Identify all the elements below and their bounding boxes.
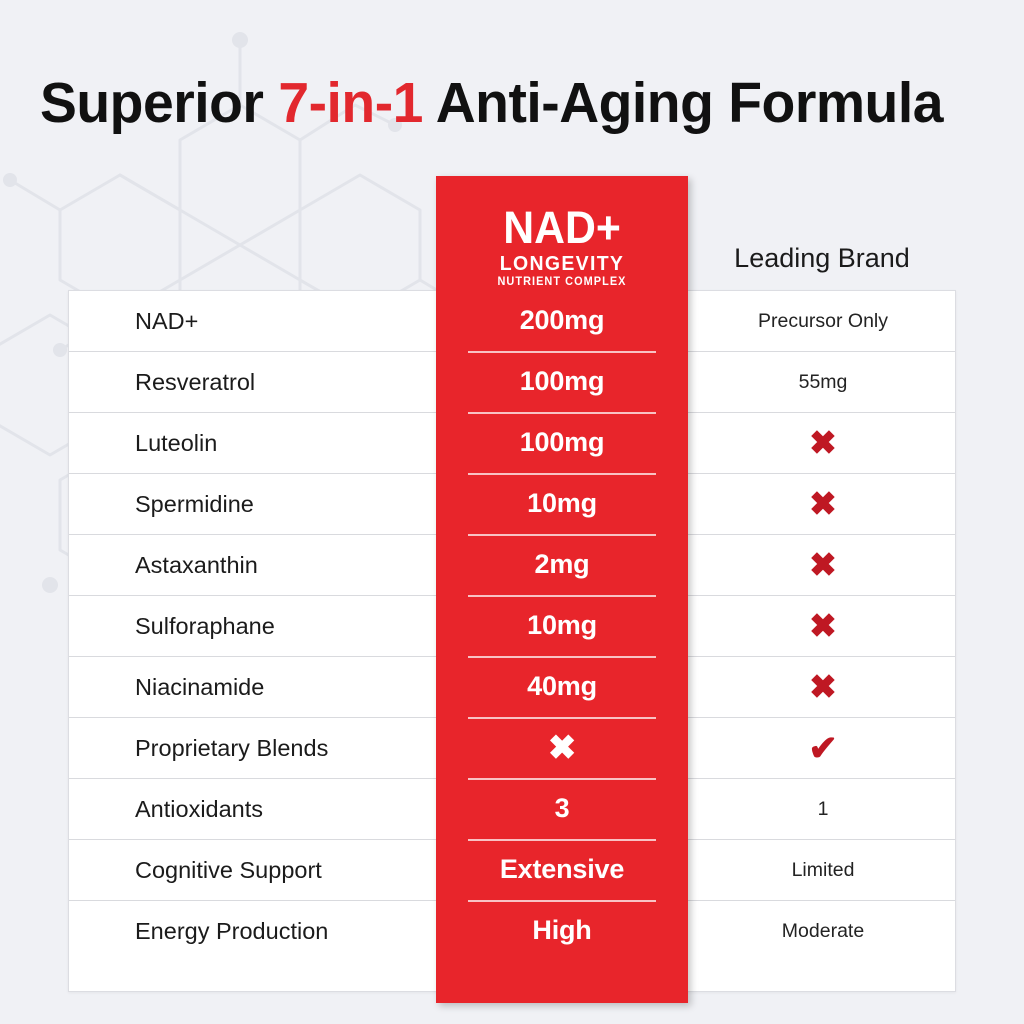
- product-brand-subtitle-2: NUTRIENT COMPLEX: [442, 275, 681, 289]
- feature-label: Astaxanthin: [69, 552, 439, 579]
- product-value: High: [436, 900, 688, 961]
- competitor-value: ✖: [691, 487, 955, 521]
- feature-label: Sulforaphane: [69, 613, 439, 640]
- feature-label: NAD+: [69, 308, 439, 335]
- competitor-value: 1: [691, 798, 955, 821]
- competitor-value: ✔: [691, 731, 955, 766]
- competitor-value: 55mg: [691, 371, 955, 394]
- cross-icon: ✖: [809, 548, 837, 581]
- feature-label: Energy Production: [69, 918, 439, 945]
- title-part-1: Superior: [40, 71, 278, 135]
- competitor-value: ✖: [691, 670, 955, 704]
- page-title: Superior 7-in-1 Anti-Aging Formula: [40, 66, 962, 140]
- check-icon: ✔: [808, 731, 837, 766]
- product-brand-header: NAD+ LONGEVITY NUTRIENT COMPLEX: [436, 176, 688, 290]
- competitor-column-header: Leading Brand: [688, 243, 956, 274]
- product-value: 10mg: [436, 595, 688, 656]
- feature-label: Resveratrol: [69, 369, 439, 396]
- cross-icon: ✖: [809, 426, 837, 459]
- feature-label: Niacinamide: [69, 674, 439, 701]
- cross-icon: ✖: [809, 670, 837, 703]
- competitor-value: Precursor Only: [691, 310, 955, 333]
- product-value: 10mg: [436, 473, 688, 534]
- competitor-value: Moderate: [691, 920, 955, 943]
- cross-icon: ✖: [809, 487, 837, 520]
- product-brand-subtitle-1: LONGEVITY: [442, 252, 681, 275]
- competitor-value: ✖: [691, 609, 955, 643]
- product-value: 200mg: [436, 290, 688, 351]
- product-value: 100mg: [436, 412, 688, 473]
- cross-icon: ✖: [809, 609, 837, 642]
- cross-icon: ✖: [548, 731, 576, 765]
- product-value: 3: [436, 778, 688, 839]
- product-highlight-column: NAD+ LONGEVITY NUTRIENT COMPLEX 200mg100…: [436, 176, 688, 1003]
- competitor-value: ✖: [691, 426, 955, 460]
- feature-label: Proprietary Blends: [69, 735, 439, 762]
- title-part-2: Anti-Aging Formula: [423, 71, 943, 135]
- product-value: ✖: [436, 717, 688, 778]
- feature-label: Spermidine: [69, 491, 439, 518]
- title-accent: 7-in-1: [278, 71, 423, 135]
- product-value: Extensive: [436, 839, 688, 900]
- feature-label: Cognitive Support: [69, 857, 439, 884]
- feature-label: Antioxidants: [69, 796, 439, 823]
- product-brand-name: NAD+: [442, 204, 681, 252]
- product-value-list: 200mg100mg100mg10mg2mg10mg40mg✖3Extensiv…: [436, 290, 688, 961]
- feature-label: Luteolin: [69, 430, 439, 457]
- product-value: 100mg: [436, 351, 688, 412]
- product-value: 40mg: [436, 656, 688, 717]
- competitor-value: Limited: [691, 859, 955, 882]
- competitor-value: ✖: [691, 548, 955, 582]
- product-value: 2mg: [436, 534, 688, 595]
